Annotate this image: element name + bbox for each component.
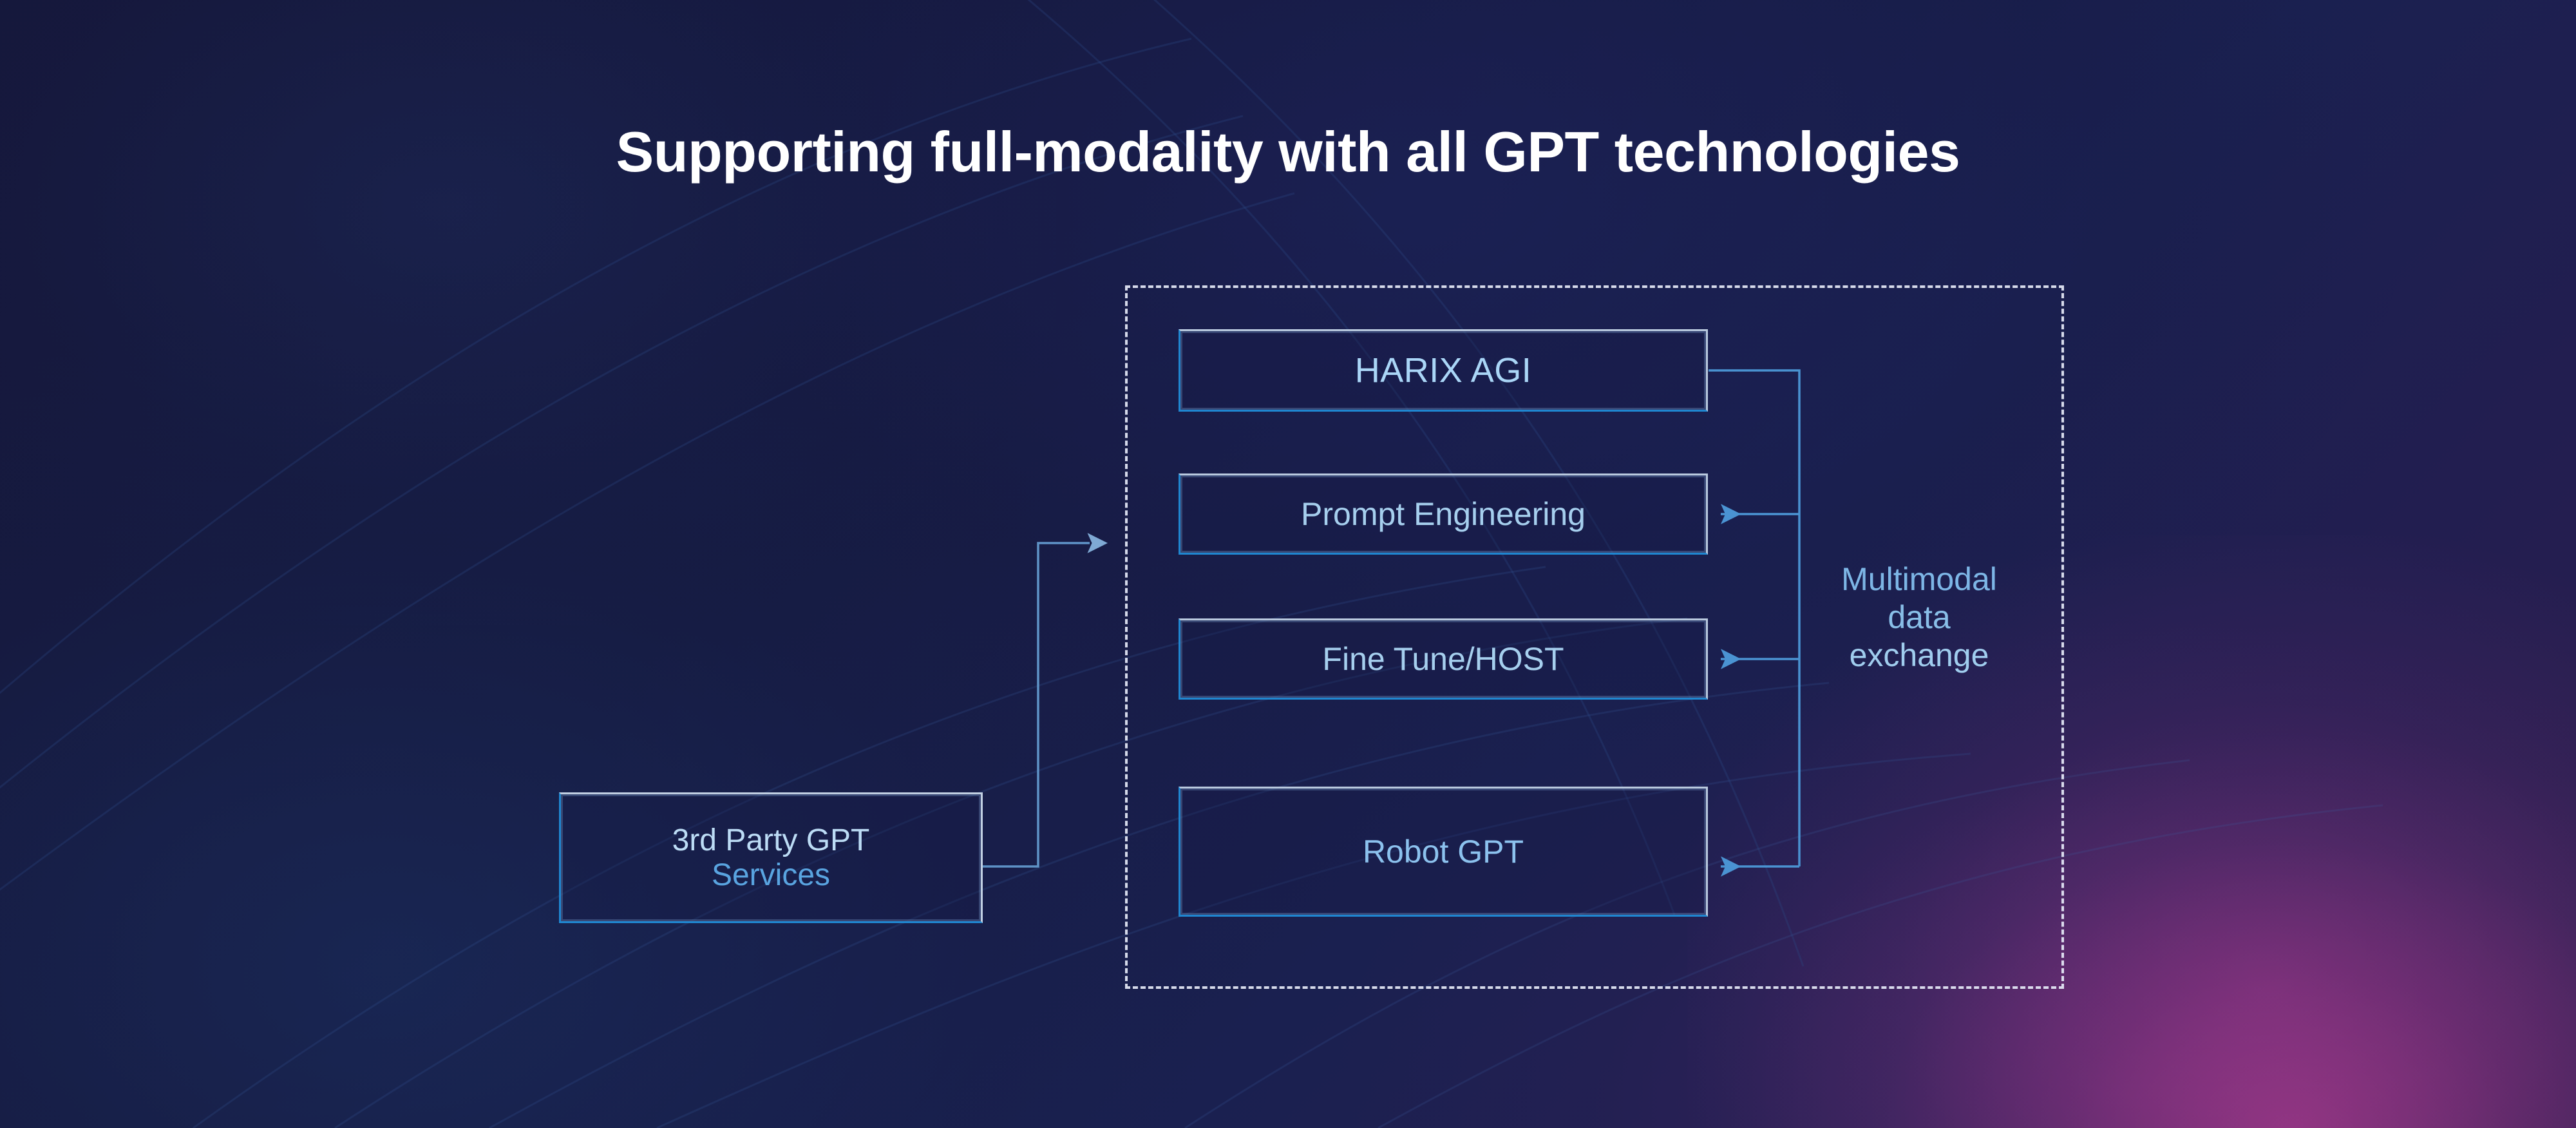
node-third-party-gpt-services[interactable]: 3rd Party GPT Services [559, 792, 983, 923]
multimodal-label-line2: data [1888, 599, 1950, 635]
node-fine-tune-host[interactable]: Fine Tune/HOST [1179, 618, 1708, 700]
node-prompt-engineering-label: Prompt Engineering [1180, 496, 1706, 532]
page-title: Supporting full-modality with all GPT te… [0, 119, 2576, 185]
node-prompt-engineering[interactable]: Prompt Engineering [1179, 473, 1708, 555]
node-harix-agi-label: HARIX AGI [1180, 351, 1706, 390]
node-third-party-label-line2: Services [712, 858, 830, 892]
multimodal-data-exchange-label: Multimodal data exchange [1797, 560, 2041, 674]
background-glow-top-left [0, 0, 1056, 625]
multimodal-label-line1: Multimodal [1841, 561, 1997, 597]
node-robot-gpt-label: Robot GPT [1180, 834, 1706, 870]
node-harix-agi[interactable]: HARIX AGI [1179, 329, 1708, 412]
node-robot-gpt[interactable]: Robot GPT [1179, 787, 1708, 917]
multimodal-label-line3: exchange [1850, 637, 1989, 673]
node-third-party-label-line1: 3rd Party GPT [672, 823, 870, 857]
slide-canvas: Supporting full-modality with all GPT te… [0, 0, 2576, 1128]
node-fine-tune-host-label: Fine Tune/HOST [1180, 641, 1706, 677]
